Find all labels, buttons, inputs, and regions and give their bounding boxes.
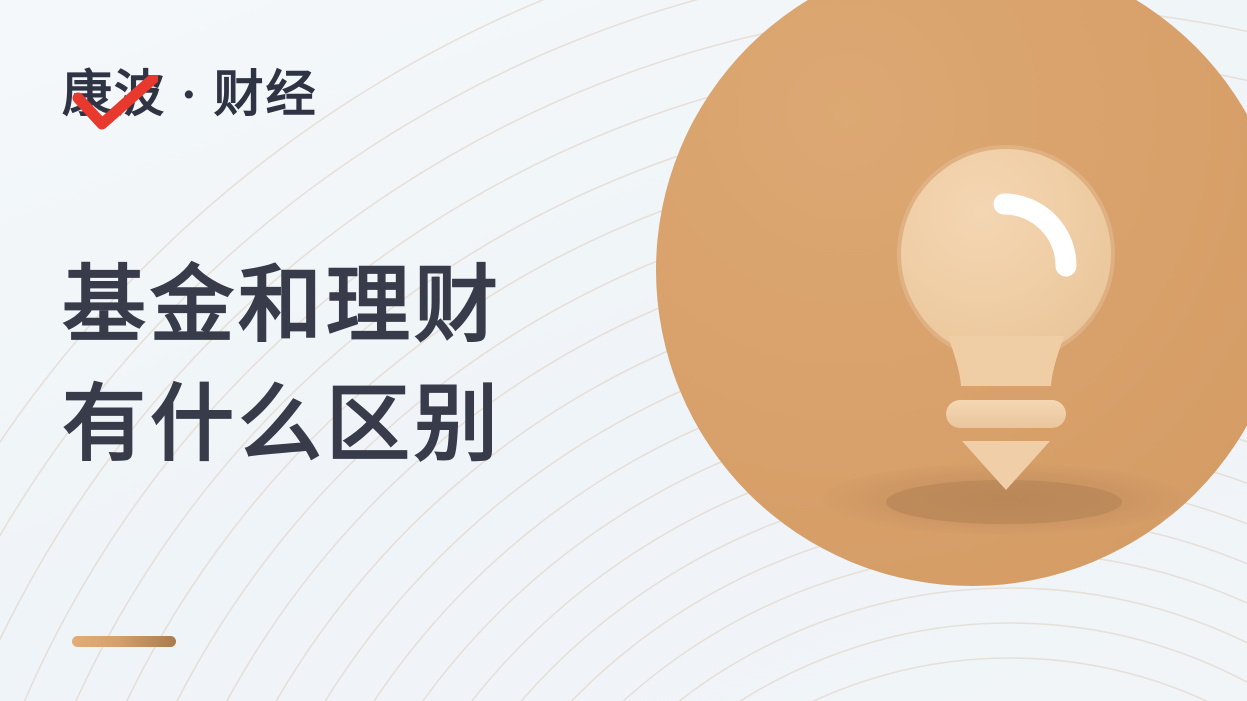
page-title-line-2: 有什么区别	[62, 365, 502, 484]
bulb-base-bar	[946, 400, 1066, 428]
accent-underline-bar	[72, 636, 176, 647]
page-title: 基金和理财 有什么区别	[62, 246, 502, 485]
poster-canvas: 康波 · 财经 基金和理财 有什么区别	[0, 0, 1247, 701]
brand-logo-text: 康波 · 财经	[62, 69, 318, 119]
brand-logo[interactable]: 康波 · 财经	[62, 58, 318, 130]
bulb-neck	[948, 336, 1064, 386]
lightbulb-illustration	[656, 0, 1247, 586]
bulb-glass-circle	[901, 149, 1111, 359]
page-title-line-1: 基金和理财	[62, 246, 502, 365]
